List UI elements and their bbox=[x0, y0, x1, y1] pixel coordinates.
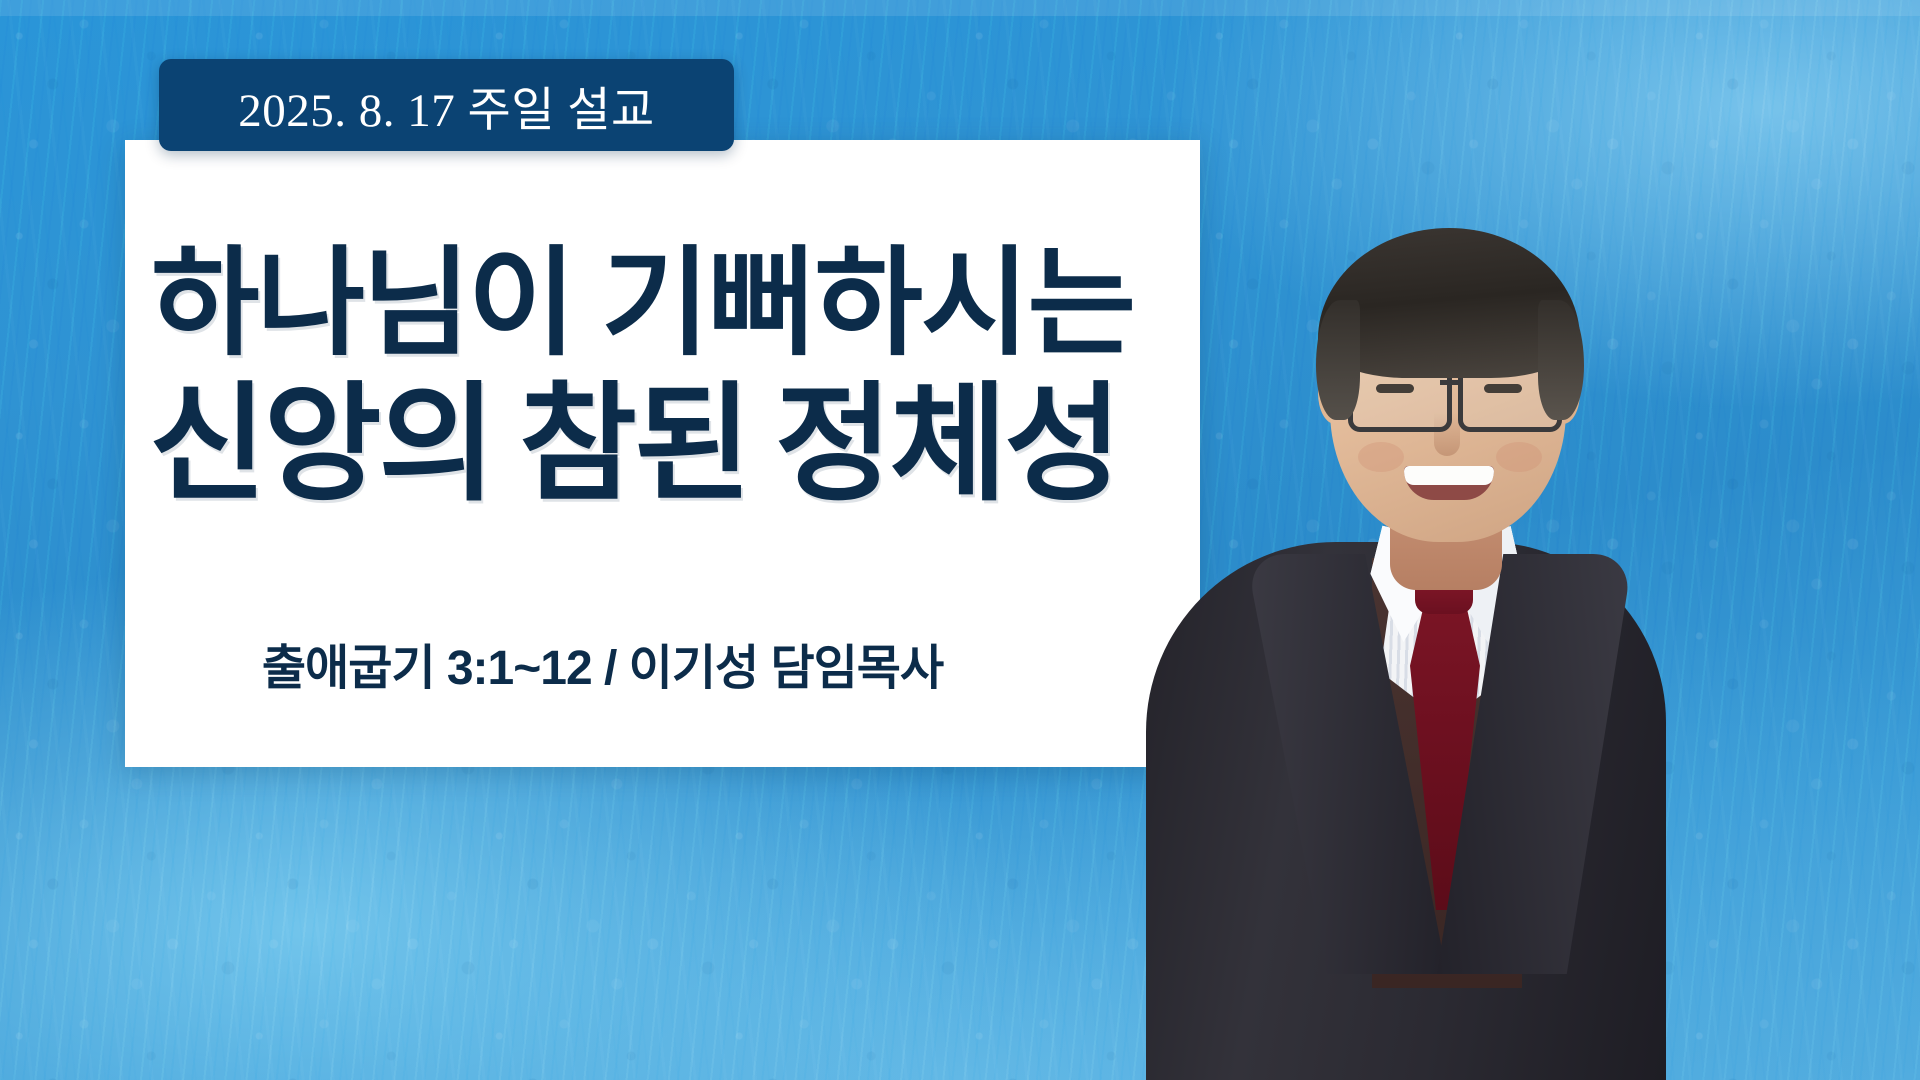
portrait-cheek-right bbox=[1496, 442, 1542, 472]
title-line-1: 하나님이기뻐하시는 bbox=[151, 245, 1200, 363]
sermon-title: 하나님이기뻐하시는 신앙의참된정체성 bbox=[125, 245, 1200, 509]
title-line-2-segment-c: 정체성 bbox=[775, 373, 1119, 516]
portrait-glasses-bridge bbox=[1440, 380, 1462, 385]
sermon-thumbnail: 2025. 8. 17 주일 설교 하나님이기뻐하시는 신앙의참된정체성 출애굽… bbox=[0, 0, 1920, 1080]
pastor-portrait bbox=[1118, 150, 1678, 1080]
portrait-teeth bbox=[1404, 466, 1494, 485]
portrait-cheek-left bbox=[1358, 442, 1404, 472]
title-line-1-segment-a: 하나님 bbox=[151, 238, 468, 370]
sermon-subtitle: 출애굽기 3:1~12 / 이기성 담임목사 bbox=[125, 628, 1200, 698]
title-line-2-segment-b: 참된 bbox=[519, 373, 749, 516]
date-badge-label: 2025. 8. 17 주일 설교 bbox=[238, 71, 654, 140]
background-top-band bbox=[0, 0, 1920, 16]
title-line-2-segment-a: 신앙의 bbox=[149, 373, 493, 516]
portrait-mouth bbox=[1404, 466, 1494, 500]
portrait-hair-side-left bbox=[1316, 300, 1360, 420]
title-line-1-segment-b: 이 bbox=[468, 238, 576, 370]
date-badge: 2025. 8. 17 주일 설교 bbox=[159, 59, 734, 151]
title-line-2: 신앙의참된정체성 bbox=[149, 381, 1200, 509]
title-line-1-segment-c: 기뻐하시는 bbox=[601, 238, 1134, 370]
